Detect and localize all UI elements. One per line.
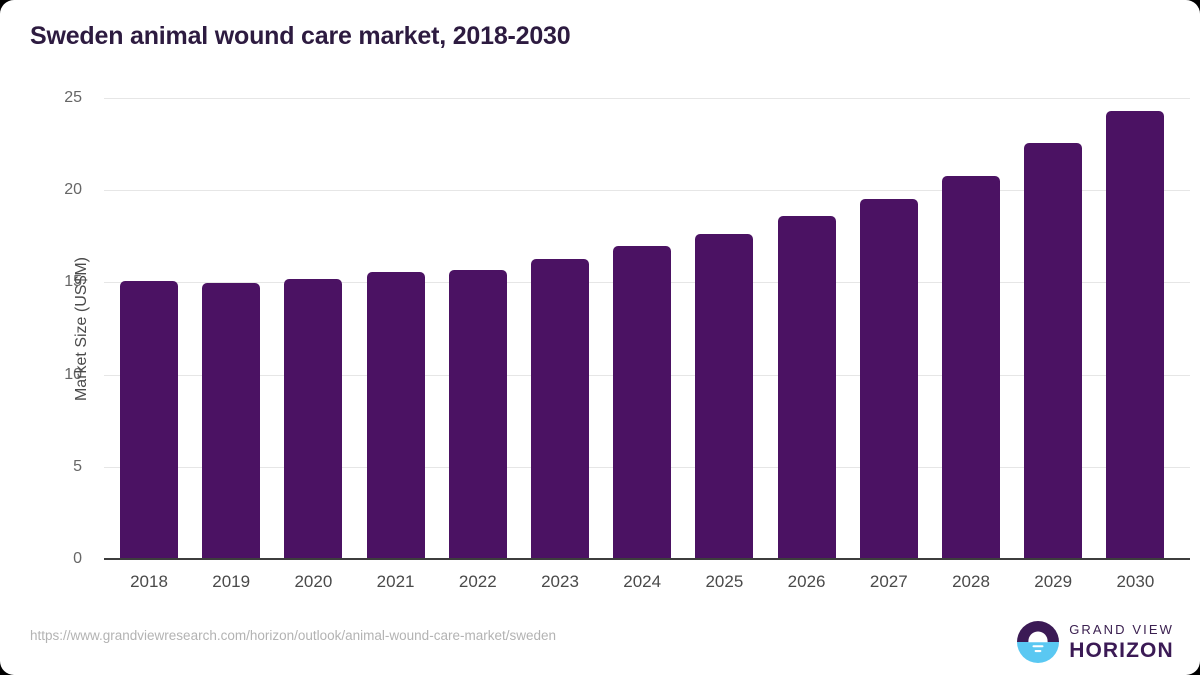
x-tick-label: 2025 [683, 572, 765, 592]
bar[interactable] [860, 199, 918, 560]
x-tick-label: 2019 [190, 572, 272, 592]
bar[interactable] [613, 246, 671, 559]
x-tick-label: 2020 [272, 572, 354, 592]
bar[interactable] [942, 176, 1000, 559]
page-title: Sweden animal wound care market, 2018-20… [30, 22, 570, 51]
y-axis-title: Market Size (US$M) [73, 256, 91, 400]
x-tick-label: 2018 [108, 572, 190, 592]
y-tick-label: 5 [22, 458, 82, 476]
bar[interactable] [449, 270, 507, 559]
bar[interactable] [202, 283, 260, 559]
chart-card: Sweden animal wound care market, 2018-20… [0, 0, 1200, 675]
x-tick-label: 2022 [437, 572, 519, 592]
x-tick-label: 2023 [519, 572, 601, 592]
bar[interactable] [284, 279, 342, 559]
x-tick-label: 2026 [766, 572, 848, 592]
x-tick-label: 2027 [848, 572, 930, 592]
x-axis-line [104, 558, 1190, 560]
logo-wordmark: GRAND VIEW HORIZON [1069, 623, 1174, 661]
gridline [104, 98, 1190, 99]
x-tick-label: 2028 [930, 572, 1012, 592]
logo-line-1: GRAND VIEW [1069, 623, 1174, 636]
source-url[interactable]: https://www.grandviewresearch.com/horizo… [30, 628, 556, 643]
y-tick-label: 0 [22, 550, 82, 568]
bar[interactable] [1106, 111, 1164, 559]
y-tick-label: 20 [22, 181, 82, 199]
bar[interactable] [367, 272, 425, 559]
y-tick-label: 25 [22, 89, 82, 107]
brand-logo[interactable]: GRAND VIEW HORIZON [1016, 620, 1174, 664]
x-tick-label: 2030 [1094, 572, 1176, 592]
x-tick-label: 2029 [1012, 572, 1094, 592]
logo-line-2: HORIZON [1069, 640, 1174, 661]
bar[interactable] [531, 259, 589, 559]
x-tick-label: 2021 [355, 572, 437, 592]
bar[interactable] [695, 234, 753, 559]
horizon-circle-icon [1016, 620, 1060, 664]
bar[interactable] [1024, 143, 1082, 559]
x-tick-label: 2024 [601, 572, 683, 592]
plot-area: 0510152025 Market Size (US$M) [104, 98, 1190, 559]
bar[interactable] [120, 281, 178, 559]
bar[interactable] [778, 216, 836, 559]
